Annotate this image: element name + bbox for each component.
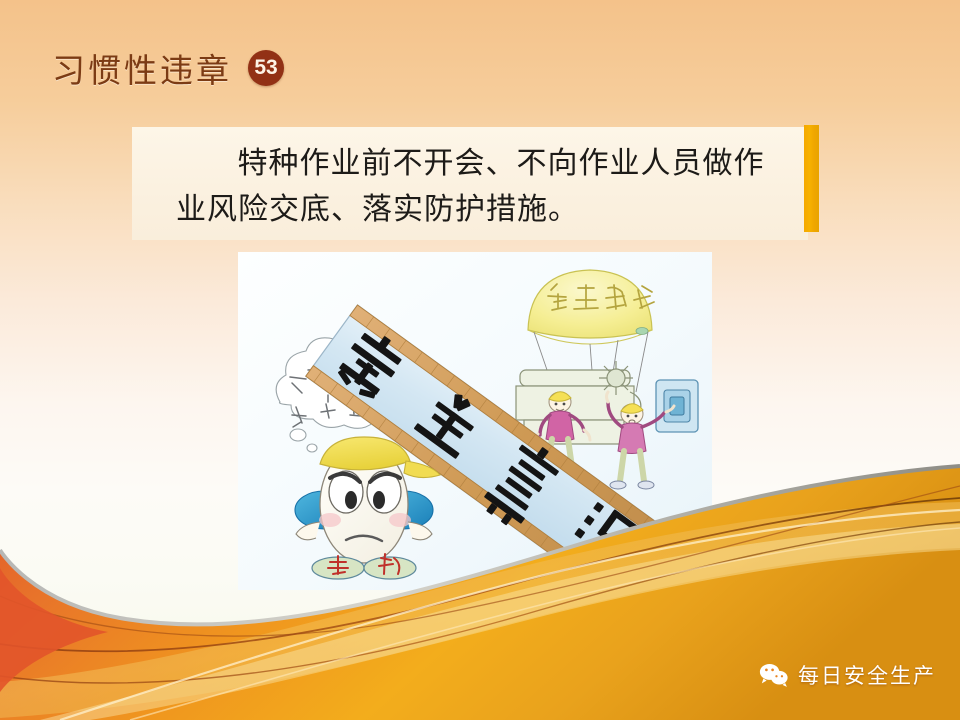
watermark: 每日安全生产: [759, 660, 936, 690]
watermark-label: 每日安全生产: [798, 660, 936, 690]
illustration-svg: [238, 252, 712, 590]
slide-number-badge: 53: [248, 50, 284, 86]
slide-canvas: 习惯性违章 53 特种作业前不开会、不向作业人员做作业风险交底、落实防护措施。: [0, 0, 960, 720]
control-panel: [656, 380, 698, 432]
slide-title-group: 习惯性违章 53: [52, 44, 284, 92]
cartoon-illustration: [238, 252, 712, 590]
wechat-icon: [759, 662, 789, 688]
statement-text: 特种作业前不开会、不向作业人员做作业风险交底、落实防护措施。: [176, 141, 768, 233]
page-title: 习惯性违章: [52, 44, 232, 92]
statement-accent-bar: [804, 125, 819, 232]
statement-box: 特种作业前不开会、不向作业人员做作业风险交底、落实防护措施。: [132, 127, 808, 240]
